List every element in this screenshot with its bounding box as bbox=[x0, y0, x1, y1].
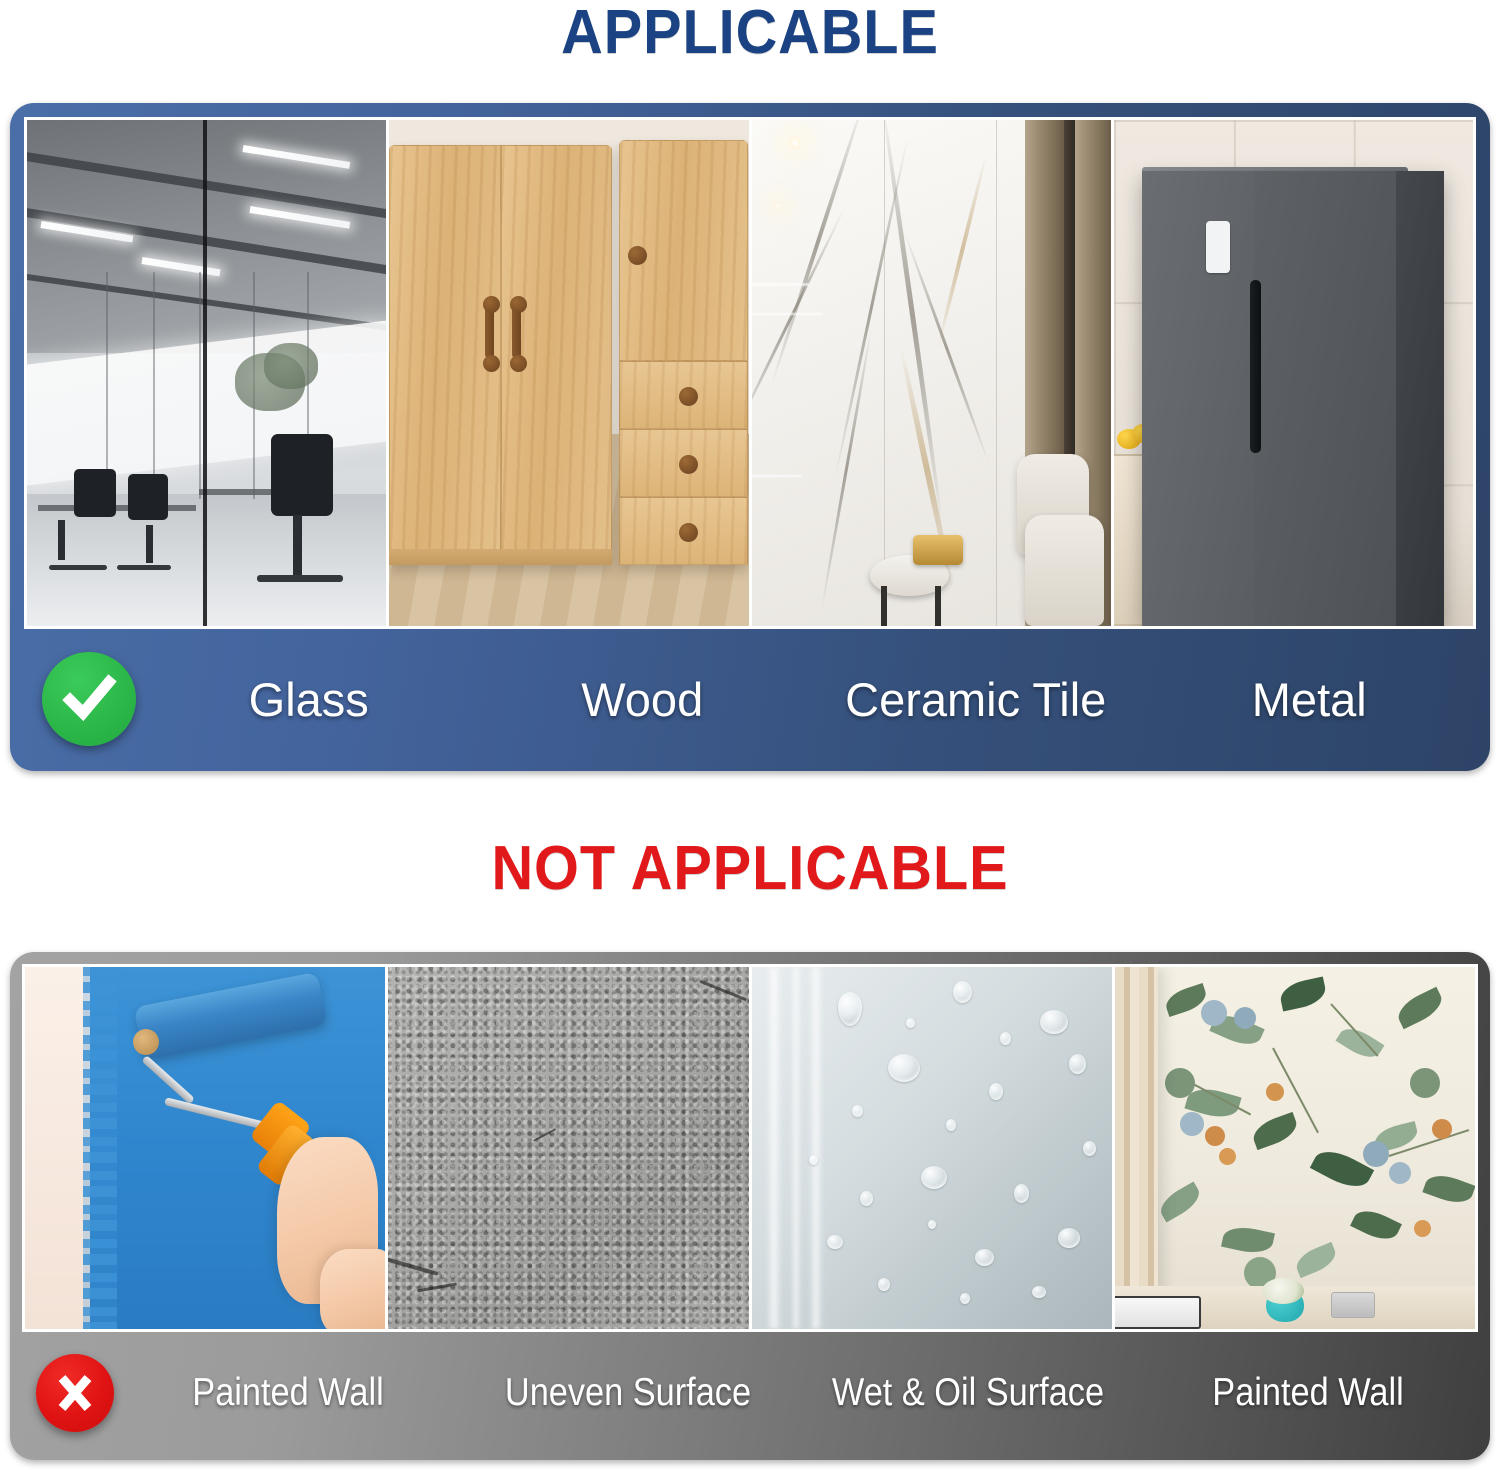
not-applicable-labels: Painted Wall Uneven Surface Wet & Oil Su… bbox=[114, 1332, 1478, 1454]
marble-tile-wall-photo bbox=[752, 120, 1114, 626]
applicable-labels: Glass Wood Ceramic Tile Metal bbox=[136, 629, 1476, 769]
paint-roller-blue-wall-photo bbox=[25, 967, 388, 1329]
applicable-label-wood: Wood bbox=[476, 672, 810, 727]
applicable-label-ceramic-tile: Ceramic Tile bbox=[809, 672, 1143, 727]
not-applicable-label-painted-wall-2: Painted Wall bbox=[1158, 1371, 1457, 1415]
not-applicable-label-bar: Painted Wall Uneven Surface Wet & Oil Su… bbox=[22, 1332, 1478, 1454]
stainless-refrigerator-photo bbox=[1114, 120, 1473, 626]
not-applicable-label-wet-oil-surface: Wet & Oil Surface bbox=[818, 1371, 1117, 1415]
check-circle-icon bbox=[42, 652, 136, 746]
not-applicable-photo-strip bbox=[22, 964, 1478, 1332]
floral-wallpaper-room-photo bbox=[1115, 967, 1475, 1329]
applicable-label-bar: Glass Wood Ceramic Tile Metal bbox=[24, 629, 1476, 769]
applicable-heading: APPLICABLE bbox=[53, 2, 1448, 64]
infographic-page: APPLICABLE bbox=[0, 0, 1500, 1470]
not-applicable-label-painted-wall-1: Painted Wall bbox=[138, 1371, 437, 1415]
x-circle-icon bbox=[36, 1354, 114, 1432]
applicable-label-glass: Glass bbox=[142, 672, 476, 727]
not-applicable-heading: NOT APPLICABLE bbox=[53, 838, 1448, 900]
water-droplets-surface-photo bbox=[752, 967, 1115, 1329]
oak-wardrobe-photo bbox=[389, 120, 751, 626]
not-applicable-label-uneven-surface: Uneven Surface bbox=[478, 1371, 777, 1415]
glass-office-partition-photo bbox=[27, 120, 389, 626]
applicable-label-metal: Metal bbox=[1143, 672, 1477, 727]
applicable-card: Glass Wood Ceramic Tile Metal bbox=[10, 103, 1490, 771]
applicable-photo-strip bbox=[24, 117, 1476, 629]
rough-concrete-texture-photo bbox=[388, 967, 751, 1329]
not-applicable-card: Painted Wall Uneven Surface Wet & Oil Su… bbox=[10, 952, 1490, 1460]
